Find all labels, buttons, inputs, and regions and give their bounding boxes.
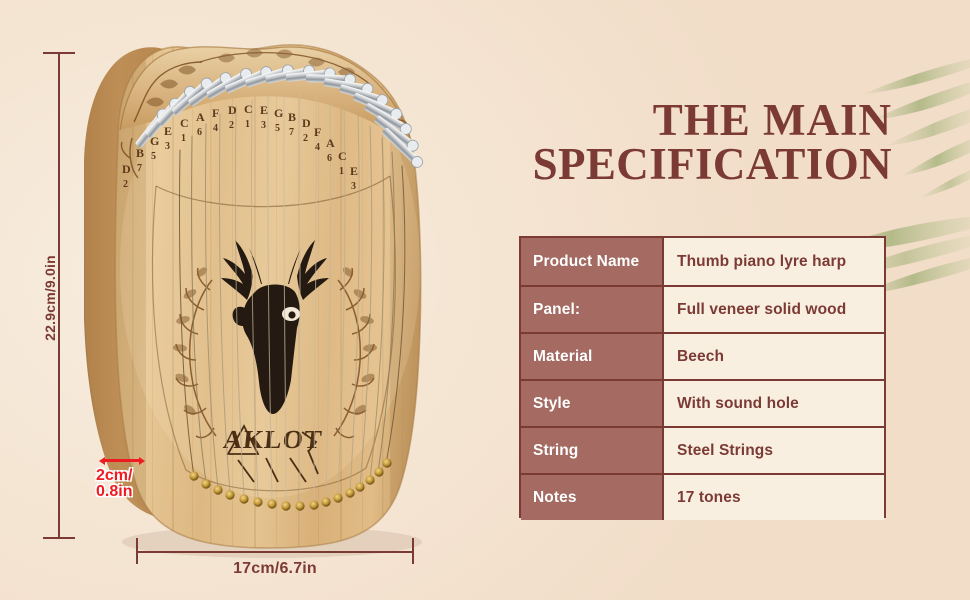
specification-table: Product Name Thumb piano lyre harp Panel… — [519, 236, 886, 518]
title-line-2: SPECIFICATION — [533, 142, 892, 186]
spec-value: Beech — [664, 334, 884, 379]
table-row: Notes 17 tones — [521, 473, 884, 520]
height-dimension-cap-bottom — [43, 537, 75, 539]
spec-value: Thumb piano lyre harp — [664, 238, 884, 285]
depth-label-line-2: 0.8in — [96, 484, 132, 500]
spec-value: 17 tones — [664, 475, 884, 520]
depth-label-line-1: 2cm/ — [96, 468, 132, 484]
spec-key: Panel: — [521, 287, 664, 332]
width-dimension-line — [136, 551, 414, 553]
spec-value: Full veneer solid wood — [664, 287, 884, 332]
depth-dimension-arrow — [104, 459, 140, 462]
page-title: THE MAIN SPECIFICATION — [533, 98, 892, 186]
spec-key: Product Name — [521, 238, 664, 285]
table-row: Product Name Thumb piano lyre harp — [521, 238, 884, 285]
spec-key: Material — [521, 334, 664, 379]
depth-dimension-label: 2cm/ 0.8in — [96, 468, 132, 501]
spec-key: Style — [521, 381, 664, 426]
height-dimension-cap-top — [43, 52, 75, 54]
title-line-1: THE MAIN — [533, 98, 892, 142]
spec-value: Steel Strings — [664, 428, 884, 473]
spec-value: With sound hole — [664, 381, 884, 426]
table-row: String Steel Strings — [521, 426, 884, 473]
table-row: Panel: Full veneer solid wood — [521, 285, 884, 332]
spec-banner: AKLOT — [0, 0, 970, 600]
width-dimension-label: 17cm/6.7in — [136, 560, 414, 578]
spec-key: String — [521, 428, 664, 473]
spec-key: Notes — [521, 475, 664, 520]
table-row: Style With sound hole — [521, 379, 884, 426]
table-row: Material Beech — [521, 332, 884, 379]
height-dimension-label: 22.9cm/9.0in — [42, 238, 58, 358]
height-dimension-line — [58, 52, 60, 539]
